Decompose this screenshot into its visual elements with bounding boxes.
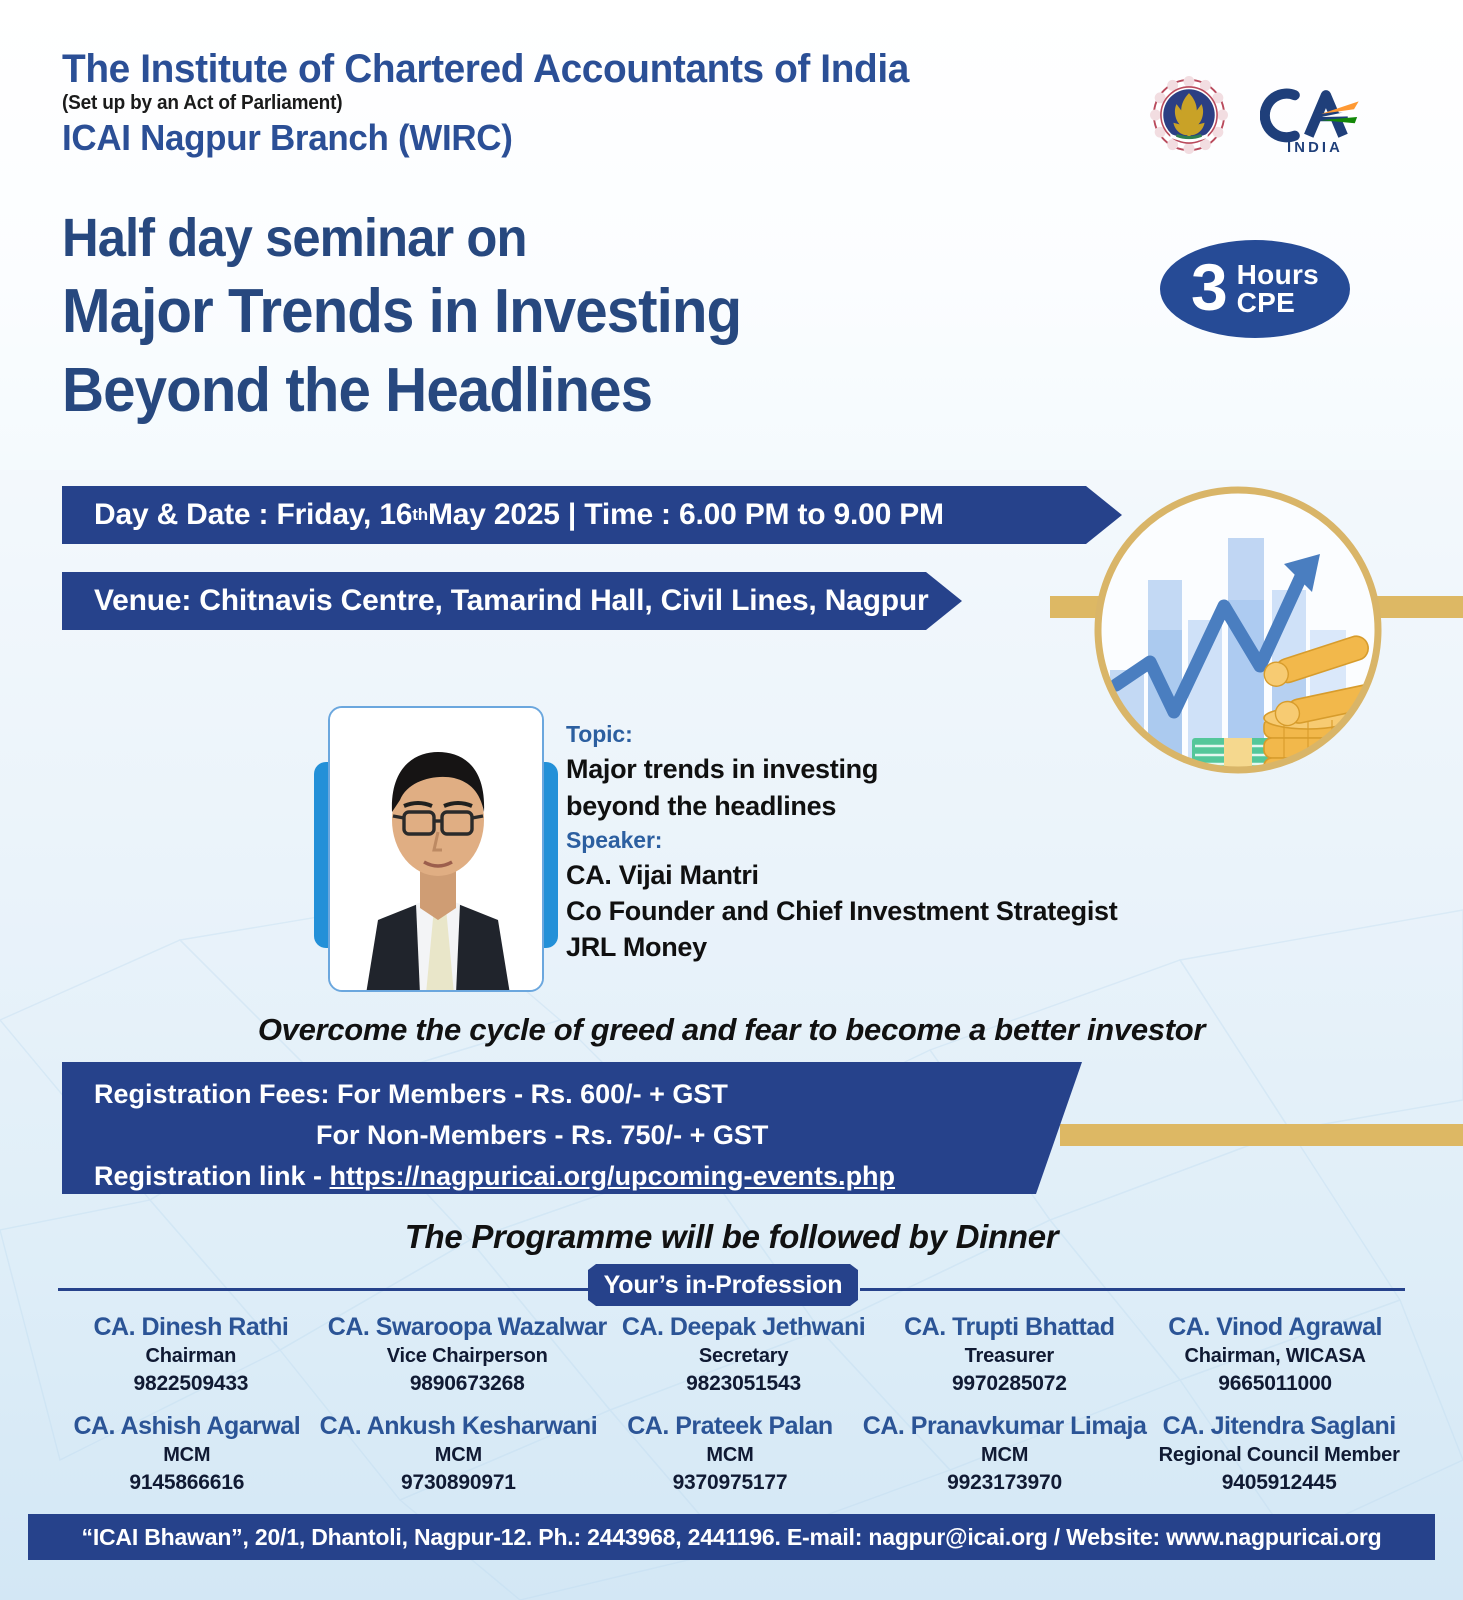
contact-item: CA. Deepak Jethwani Secretary 9823051543 — [611, 1312, 877, 1397]
office-bearers-row-2: CA. Ashish Agarwal MCM 9145866616 CA. An… — [58, 1411, 1408, 1496]
title-line-3: Beyond the Headlines — [62, 352, 1002, 430]
contact-item: CA. Prateek Palan MCM 9370975177 — [601, 1411, 859, 1496]
divider-right — [860, 1288, 1405, 1291]
contact-role: MCM — [320, 1442, 598, 1469]
cpe-hours-badge: 3 Hours CPE — [1160, 240, 1350, 338]
office-bearers-list: CA. Dinesh Rathi Chairman 9822509433 CA.… — [58, 1312, 1408, 1510]
contact-name: CA. Vinod Agrawal — [1146, 1312, 1404, 1343]
date-suffix: May 2025 | Time : 6.00 PM to 9.00 PM — [428, 498, 944, 532]
contact-phone: 9890673268 — [328, 1370, 607, 1397]
contact-role: MCM — [62, 1442, 312, 1469]
office-bearers-row-1: CA. Dinesh Rathi Chairman 9822509433 CA.… — [58, 1312, 1408, 1397]
contact-item: CA. Trupti Bhattad Treasurer 9970285072 — [876, 1312, 1142, 1397]
contact-item: CA. Ashish Agarwal MCM 9145866616 — [58, 1411, 316, 1496]
organisation-subtitle: (Set up by an Act of Parliament) — [62, 92, 1050, 115]
divider-left — [58, 1288, 588, 1291]
contact-phone: 9923173970 — [863, 1469, 1147, 1496]
date-ordinal-suffix: th — [412, 505, 428, 525]
contact-phone: 9145866616 — [62, 1469, 312, 1496]
branch-name: ICAI Nagpur Branch (WIRC) — [62, 117, 1071, 159]
topic-line-1: Major trends in investing — [566, 751, 1206, 787]
ca-india-logo-icon: INDIA — [1260, 78, 1370, 156]
contact-item: CA. Jitendra Saglani Regional Council Me… — [1150, 1411, 1408, 1496]
cpe-label: CPE — [1237, 289, 1319, 317]
contact-name: CA. Prateek Palan — [605, 1411, 855, 1442]
contact-phone: 9730890971 — [320, 1469, 598, 1496]
speaker-photo — [328, 706, 544, 992]
icai-emblem-icon — [1150, 76, 1228, 154]
venue-banner: Venue: Chitnavis Centre, Tamarind Hall, … — [62, 572, 962, 630]
contact-role: Vice Chairperson — [328, 1343, 607, 1370]
speaker-name: CA. Vijai Mantri — [566, 857, 1206, 893]
speaker-label: Speaker: — [566, 824, 1206, 857]
contact-name: CA. Deepak Jethwani — [615, 1312, 873, 1343]
date-time-banner: Day & Date : Friday, 16th May 2025 | Tim… — [62, 486, 1122, 544]
registration-link-url[interactable]: https://nagpuricai.org/upcoming-events.p… — [330, 1161, 896, 1191]
contact-phone: 9405912445 — [1154, 1469, 1404, 1496]
title-line-2: Major Trends in Investing — [62, 272, 1002, 353]
registration-link-row: Registration link - https://nagpuricai.o… — [94, 1156, 895, 1197]
registration-banner: Registration Fees: For Members - Rs. 600… — [62, 1062, 1082, 1194]
contact-role: MCM — [605, 1442, 855, 1469]
contact-name: CA. Ashish Agarwal — [62, 1411, 312, 1442]
contact-role: Chairman — [62, 1343, 320, 1370]
contact-name: CA. Trupti Bhattad — [880, 1312, 1138, 1343]
footer-address-bar: “ICAI Bhawan”, 20/1, Dhantoli, Nagpur-12… — [28, 1514, 1435, 1560]
cpe-hours-label: Hours — [1237, 261, 1319, 289]
contact-role: Treasurer — [880, 1343, 1138, 1370]
contact-item: CA. Swaroopa Wazalwar Vice Chairperson 9… — [324, 1312, 611, 1397]
registration-fees-non-members: For Non-Members - Rs. 750/- + GST — [94, 1115, 768, 1156]
contact-item: CA. Pranavkumar Limaja MCM 9923173970 — [859, 1411, 1151, 1496]
contact-phone: 9823051543 — [615, 1370, 873, 1397]
contact-name: CA. Dinesh Rathi — [62, 1312, 320, 1343]
seminar-poster: The Institute of Chartered Accountants o… — [0, 0, 1463, 1600]
ca-india-label: INDIA — [1287, 140, 1343, 156]
poster-header: The Institute of Chartered Accountants o… — [62, 48, 1102, 159]
gold-accent-bar-bottom — [1060, 1124, 1463, 1146]
registration-link-label: Registration link - — [94, 1161, 330, 1191]
contact-role: MCM — [863, 1442, 1147, 1469]
topic-line-2: beyond the headlines — [566, 788, 1206, 824]
contact-name: CA. Pranavkumar Limaja — [863, 1411, 1147, 1442]
dinner-note: The Programme will be followed by Dinner — [0, 1218, 1463, 1256]
topic-label: Topic: — [566, 718, 1206, 751]
contact-phone: 9822509433 — [62, 1370, 320, 1397]
cpe-hours-number: 3 — [1191, 258, 1228, 317]
seminar-tagline: Overcome the cycle of greed and fear to … — [0, 1012, 1463, 1048]
contact-role: Secretary — [615, 1343, 873, 1370]
organisation-name: The Institute of Chartered Accountants o… — [62, 48, 1071, 90]
speaker-company: JRL Money — [566, 929, 1206, 965]
seminar-title: Half day seminar on Major Trends in Inve… — [62, 206, 1062, 431]
contact-name: CA. Swaroopa Wazalwar — [328, 1312, 607, 1343]
venue-text: Venue: Chitnavis Centre, Tamarind Hall, … — [94, 584, 929, 618]
title-line-1: Half day seminar on — [62, 206, 1002, 272]
contact-name: CA. Jitendra Saglani — [1154, 1411, 1404, 1442]
contact-role: Chairman, WICASA — [1146, 1343, 1404, 1370]
yours-in-profession-ribbon: Your’s in-Profession — [588, 1264, 858, 1306]
contact-item: CA. Dinesh Rathi Chairman 9822509433 — [58, 1312, 324, 1397]
contact-phone: 9665011000 — [1146, 1370, 1404, 1397]
contact-phone: 9970285072 — [880, 1370, 1138, 1397]
contact-role: Regional Council Member — [1154, 1442, 1404, 1469]
speaker-designation: Co Founder and Chief Investment Strategi… — [566, 893, 1206, 929]
speaker-details: Topic: Major trends in investing beyond … — [566, 718, 1206, 966]
speaker-photo-frame — [328, 706, 544, 992]
contact-name: CA. Ankush Kesharwani — [320, 1411, 598, 1442]
date-prefix: Day & Date : Friday, 16 — [94, 498, 412, 532]
contact-phone: 9370975177 — [605, 1469, 855, 1496]
contact-item: CA. Vinod Agrawal Chairman, WICASA 96650… — [1142, 1312, 1408, 1397]
contact-item: CA. Ankush Kesharwani MCM 9730890971 — [316, 1411, 602, 1496]
registration-fees-members: Registration Fees: For Members - Rs. 600… — [94, 1074, 728, 1115]
